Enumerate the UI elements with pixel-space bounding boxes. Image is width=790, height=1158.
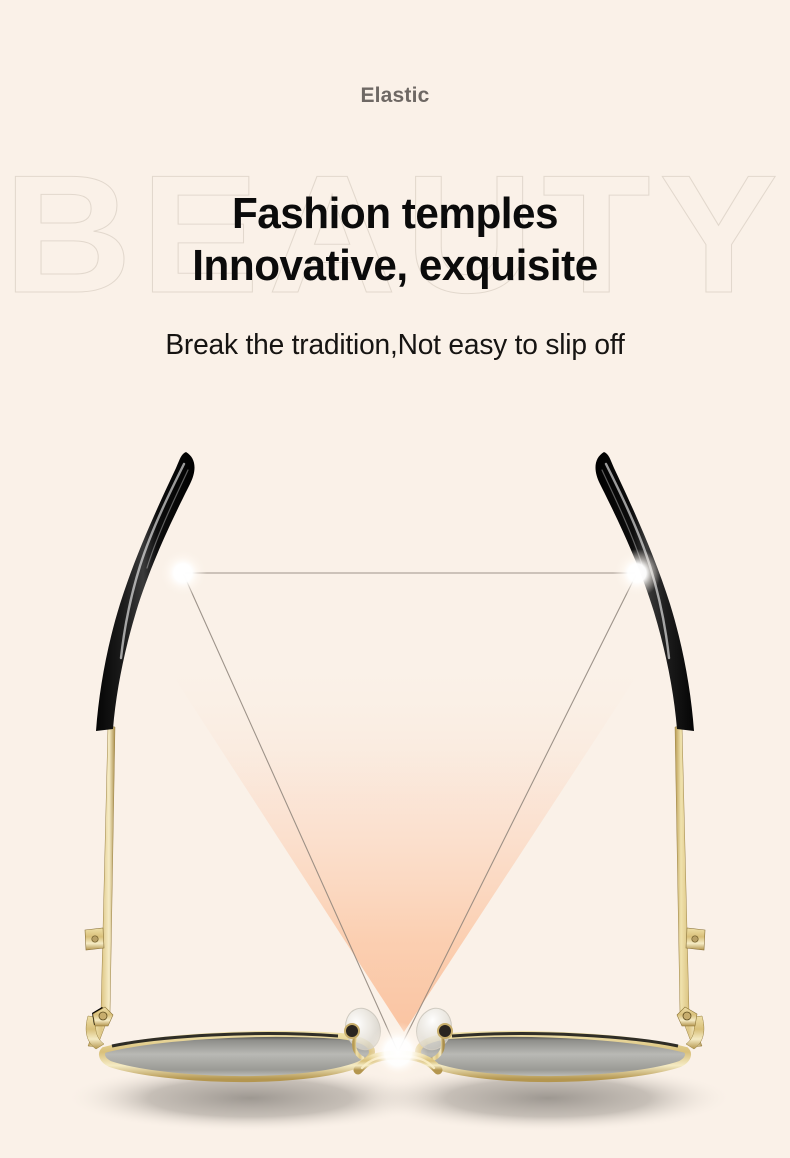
headline-line-1: Fashion temples	[16, 188, 774, 240]
eyebrow-label: Elastic	[0, 84, 790, 108]
nose-pad-mount-right	[438, 1024, 452, 1038]
product-banner: BEAUTY Elastic Fashion temples Innovativ…	[0, 0, 790, 1158]
glow-point-left	[159, 549, 207, 597]
nose-pad-mount-left	[345, 1024, 359, 1038]
hinge-screw-right	[683, 1012, 691, 1020]
headline-line-2: Innovative, exquisite	[16, 240, 774, 292]
temple-screw-right	[692, 936, 698, 942]
glow-point-right	[613, 549, 661, 597]
glow-point-bottom	[368, 1022, 428, 1082]
subheadline: Break the tradition,Not easy to slip off	[12, 327, 778, 363]
hinge-screw-left	[99, 1012, 107, 1020]
temple-screw-left	[92, 936, 98, 942]
